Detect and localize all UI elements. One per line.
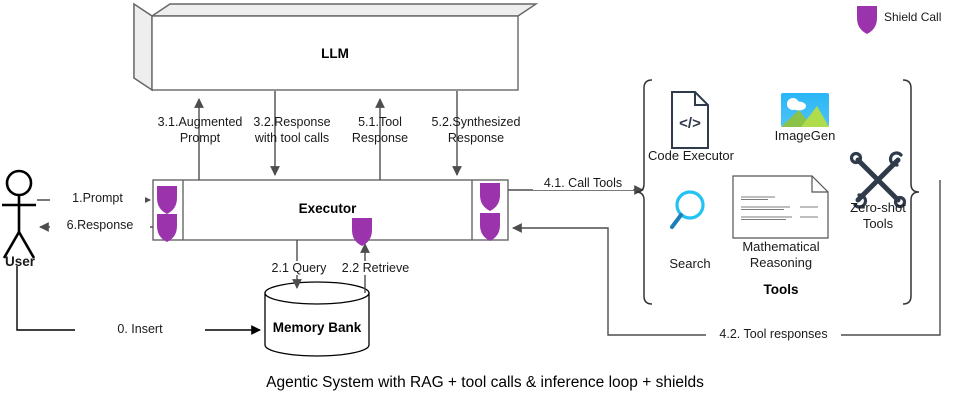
- edge-label-6-response: 6.Response: [50, 218, 150, 232]
- user-label: User: [0, 255, 40, 269]
- memory-bank-label: Memory Bank: [265, 320, 369, 335]
- executor-label: Executor: [183, 201, 472, 216]
- edge-label-5-2-line1: 5.2.Synthesized: [417, 115, 535, 129]
- tool-label-zero-shot-line1: Zero-shot: [840, 200, 916, 215]
- shield-icon: [352, 218, 372, 246]
- tool-label-search: Search: [657, 256, 723, 271]
- edge-label-3-2-line1: 3.2.Response: [233, 115, 351, 129]
- edge-label-3-2-line2: with tool calls: [233, 131, 351, 145]
- shield-icon-legend: [857, 6, 877, 34]
- edge-label-4-1-call-tools: 4.1. Call Tools: [533, 176, 633, 190]
- edge-label-2-1-query: 2.1 Query: [264, 261, 334, 275]
- tool-label-imagegen: ImageGen: [768, 128, 842, 143]
- edge-label-2-2-retrieve: 2.2 Retrieve: [333, 261, 418, 275]
- tool-label-math-line1: Mathematical: [724, 239, 838, 254]
- crossed-wrenches-icon: [852, 153, 905, 207]
- edge-label-4-2-tool-responses: 4.2. Tool responses: [706, 327, 841, 341]
- diagram-svg: </>: [0, 0, 970, 411]
- math-document-icon: [733, 176, 828, 238]
- magnifier-icon: [672, 192, 703, 227]
- tools-group-label: Tools: [733, 282, 829, 297]
- llm-label: LLM: [152, 46, 518, 61]
- diagram-caption: Agentic System with RAG + tool calls & i…: [0, 374, 970, 392]
- memory-bank-node[interactable]: [265, 282, 369, 356]
- edge-label-5-1-line2: Response: [339, 131, 421, 145]
- tool-label-zero-shot-line2: Tools: [840, 216, 916, 231]
- diagram-canvas: </>: [0, 0, 970, 411]
- edge-label-1-prompt: 1.Prompt: [50, 191, 145, 205]
- edge-label-5-2-line2: Response: [417, 131, 535, 145]
- svg-text:</>: </>: [679, 115, 701, 132]
- tool-label-math-line2: Reasoning: [724, 255, 838, 270]
- legend-shield-call-label: Shield Call: [884, 10, 941, 24]
- edge-0-insert: [17, 266, 260, 330]
- edge-label-5-1-line1: 5.1.Tool: [339, 115, 421, 129]
- code-document-icon: </>: [672, 92, 708, 148]
- tool-label-code-executor: Code Executor: [645, 148, 737, 163]
- user-actor[interactable]: [2, 171, 36, 258]
- edge-label-0-insert: 0. Insert: [75, 322, 205, 336]
- image-generation-icon: [781, 93, 829, 127]
